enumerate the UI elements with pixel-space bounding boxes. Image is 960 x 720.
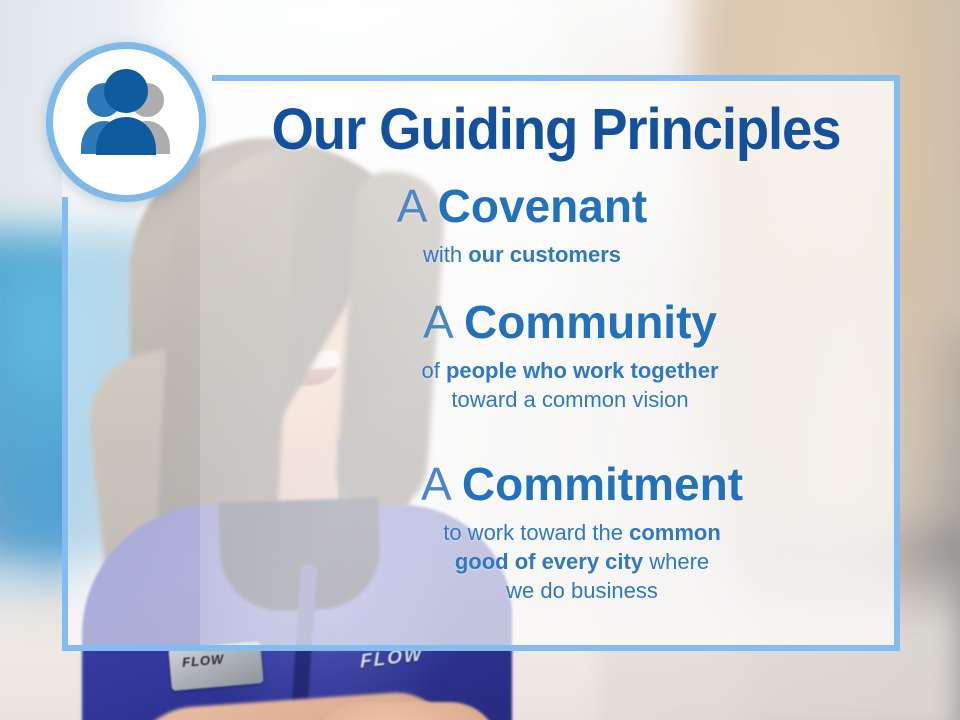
principle-word: Covenant (438, 180, 648, 232)
frame-border-bottom (62, 645, 900, 651)
frame-border-top (212, 75, 900, 81)
principle-covenant: A Covenant with our customers (212, 182, 832, 269)
principle-article: A (421, 458, 462, 510)
frame-border-left (62, 197, 68, 651)
principle-community: A Community of people who work togethert… (260, 298, 880, 414)
principle-heading: A Commitment (272, 460, 892, 508)
principle-article: A (423, 296, 464, 348)
principle-word: Community (464, 296, 717, 348)
principle-commitment: A Commitment to work toward the commongo… (272, 460, 892, 605)
principle-subtext: with our customers (212, 240, 832, 269)
principle-heading: A Community (260, 298, 880, 346)
page-title: Our Guiding Principles (233, 96, 880, 163)
guiding-principles-graphic: FLOW FLOW Our Guiding Principles (0, 0, 960, 720)
principle-subtext: of people who work togethertoward a comm… (260, 356, 880, 414)
frame-border-right (894, 75, 900, 651)
principle-word: Commitment (462, 458, 743, 510)
principle-article: A (397, 180, 438, 232)
people-group-icon (46, 42, 206, 202)
principle-subtext: to work toward the commongood of every c… (272, 518, 892, 605)
principle-heading: A Covenant (212, 182, 832, 230)
